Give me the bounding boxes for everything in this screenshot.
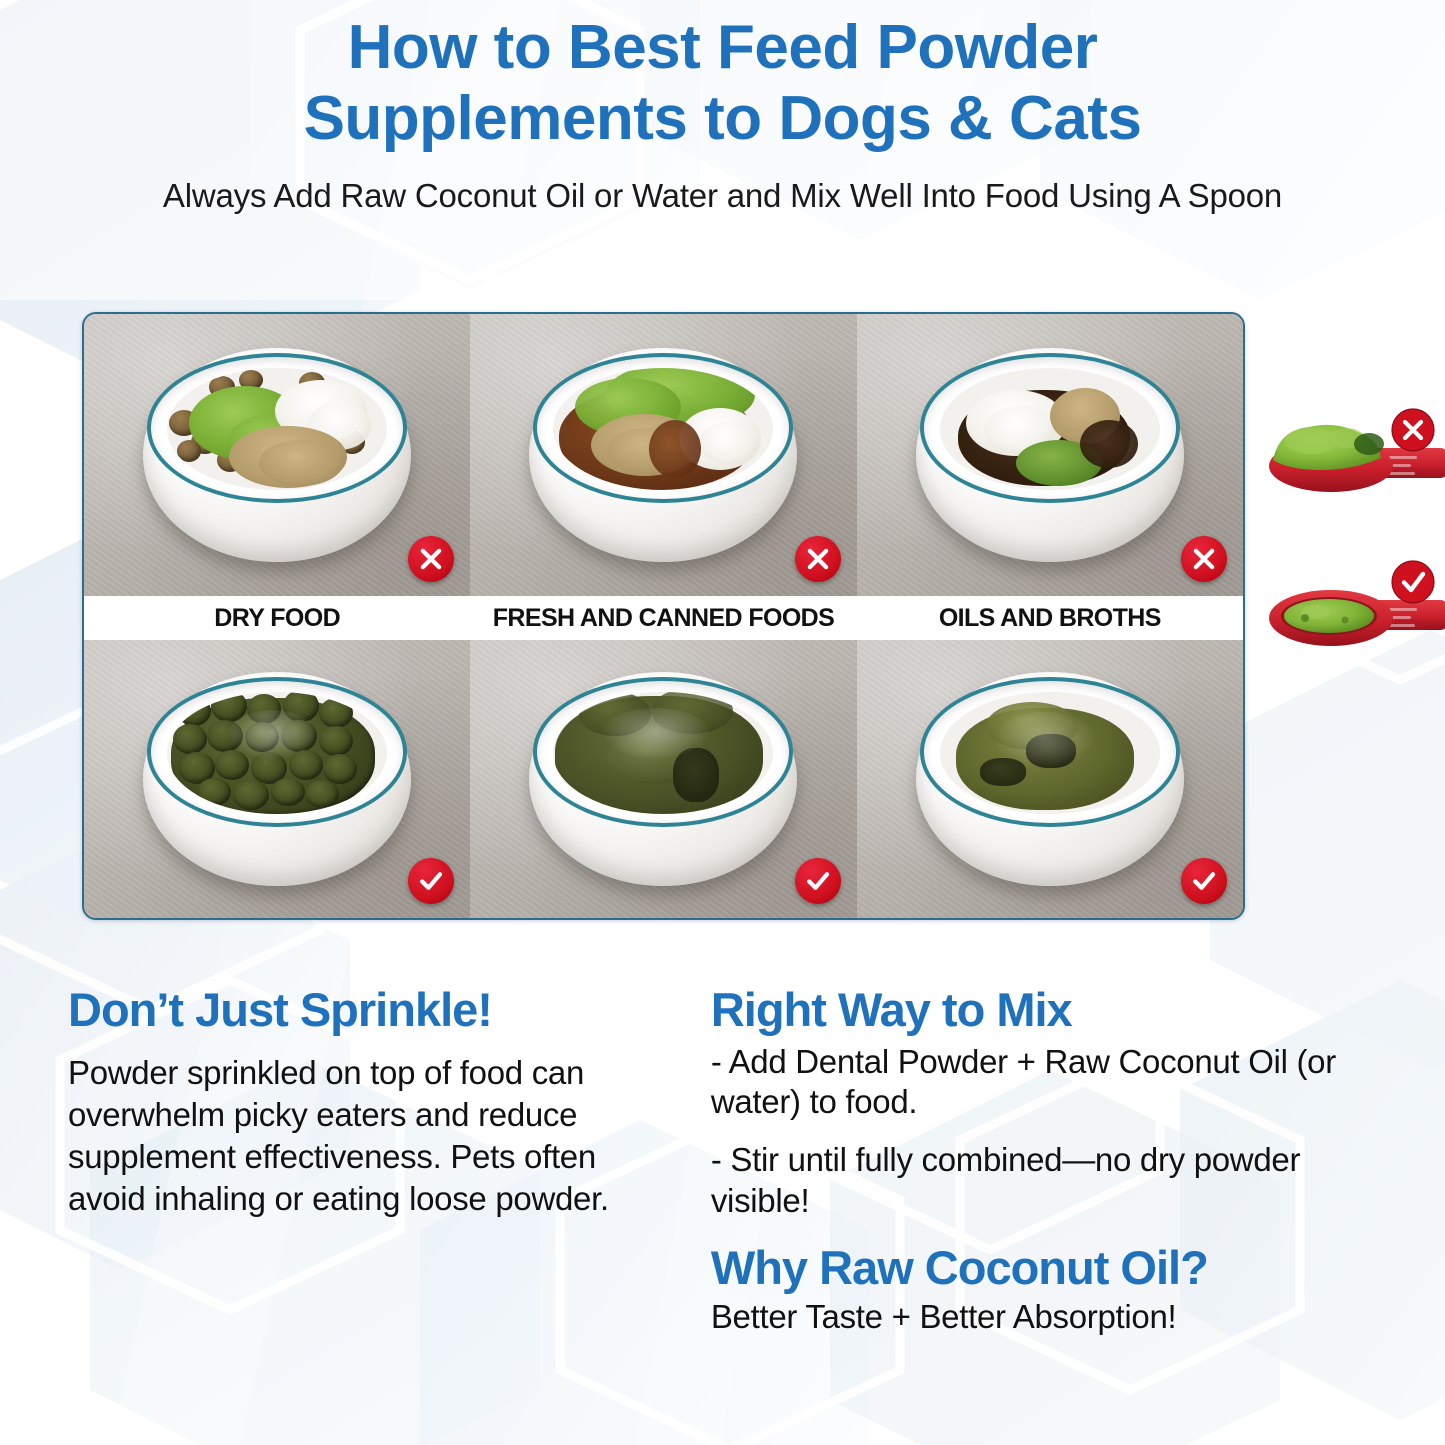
photo-oils-broths-right	[857, 640, 1243, 918]
status-badge-check	[408, 858, 454, 904]
caption-oils-and-broths: OILS AND BROTHS	[857, 596, 1243, 640]
bowl-contents	[167, 692, 387, 814]
page-title-line-1: How to Best Feed Powder	[348, 13, 1098, 82]
bowl	[143, 348, 411, 562]
heading-why-raw-coconut-oil: Why Raw Coconut Oil?	[711, 1243, 1405, 1294]
grid-cell-dry-food-right	[84, 640, 470, 918]
caption-dry-food: DRY FOOD	[84, 596, 470, 640]
check-icon	[803, 866, 833, 896]
heading-dont-just-sprinkle: Don’t Just Sprinkle!	[68, 985, 681, 1036]
spoon-heaping-scoop	[1261, 408, 1445, 528]
photo-oils-broths-wrong	[857, 314, 1243, 596]
grid-cell-dry-food-wrong: DRY FOOD	[84, 314, 470, 640]
body-dont-just-sprinkle: Powder sprinkled on top of food can over…	[68, 1052, 681, 1221]
column-dont-sprinkle: Don’t Just Sprinkle! Powder sprinkled on…	[68, 985, 711, 1336]
bowl	[529, 348, 797, 562]
heading-right-way-to-mix: Right Way to Mix	[711, 985, 1405, 1036]
bottom-content: Don’t Just Sprinkle! Powder sprinkled on…	[0, 985, 1445, 1336]
mix-step-1: - Add Dental Powder + Raw Coconut Oil (o…	[711, 1042, 1405, 1123]
mix-step-2: - Stir until fully combined—no dry powde…	[711, 1140, 1405, 1221]
infographic-page: How to Best Feed Powder Supplements to D…	[0, 0, 1445, 1445]
bowl-contents	[553, 368, 773, 490]
page-title-line-2: Supplements to Dogs & Cats	[304, 84, 1142, 153]
status-badge-x	[795, 536, 841, 582]
page-title: How to Best Feed Powder Supplements to D…	[0, 12, 1445, 155]
x-icon	[803, 544, 833, 574]
header: How to Best Feed Powder Supplements to D…	[0, 0, 1445, 215]
x-icon	[1189, 544, 1219, 574]
photo-fresh-canned-right	[470, 640, 856, 918]
spoon-comparison	[1246, 408, 1445, 688]
caption-fresh-canned-foods: FRESH AND CANNED FOODS	[470, 596, 856, 640]
bowl	[916, 672, 1184, 886]
page-subtitle: Always Add Raw Coconut Oil or Water and …	[0, 177, 1445, 215]
bowl-contents	[940, 692, 1160, 814]
bowl	[916, 348, 1184, 562]
bowl	[529, 672, 797, 886]
grid-cell-oils-broths-right	[857, 640, 1243, 918]
body-why-raw-coconut-oil: Better Taste + Better Absorption!	[711, 1298, 1405, 1336]
photo-dry-food-wrong	[84, 314, 470, 596]
check-icon	[1189, 866, 1219, 896]
grid-cell-oils-broths-wrong: OILS AND BROTHS	[857, 314, 1243, 640]
bowl-contents	[167, 368, 387, 490]
status-badge-x	[408, 536, 454, 582]
bowl-contents	[940, 368, 1160, 490]
bowl-contents	[553, 692, 773, 814]
bowl	[143, 672, 411, 886]
photo-fresh-canned-wrong	[470, 314, 856, 596]
comparison-photo-grid: DRY FOOD	[82, 312, 1245, 920]
grid-cell-fresh-canned-right	[470, 640, 856, 918]
status-badge-check	[795, 858, 841, 904]
status-badge-x	[1181, 536, 1227, 582]
photo-dry-food-right	[84, 640, 470, 918]
status-badge-check	[1181, 858, 1227, 904]
x-icon	[416, 544, 446, 574]
spoon-level-scoop	[1261, 558, 1445, 678]
column-right-way-to-mix: Right Way to Mix - Add Dental Powder + R…	[711, 985, 1405, 1336]
grid-cell-fresh-canned-wrong: FRESH AND CANNED FOODS	[470, 314, 856, 640]
check-icon	[416, 866, 446, 896]
